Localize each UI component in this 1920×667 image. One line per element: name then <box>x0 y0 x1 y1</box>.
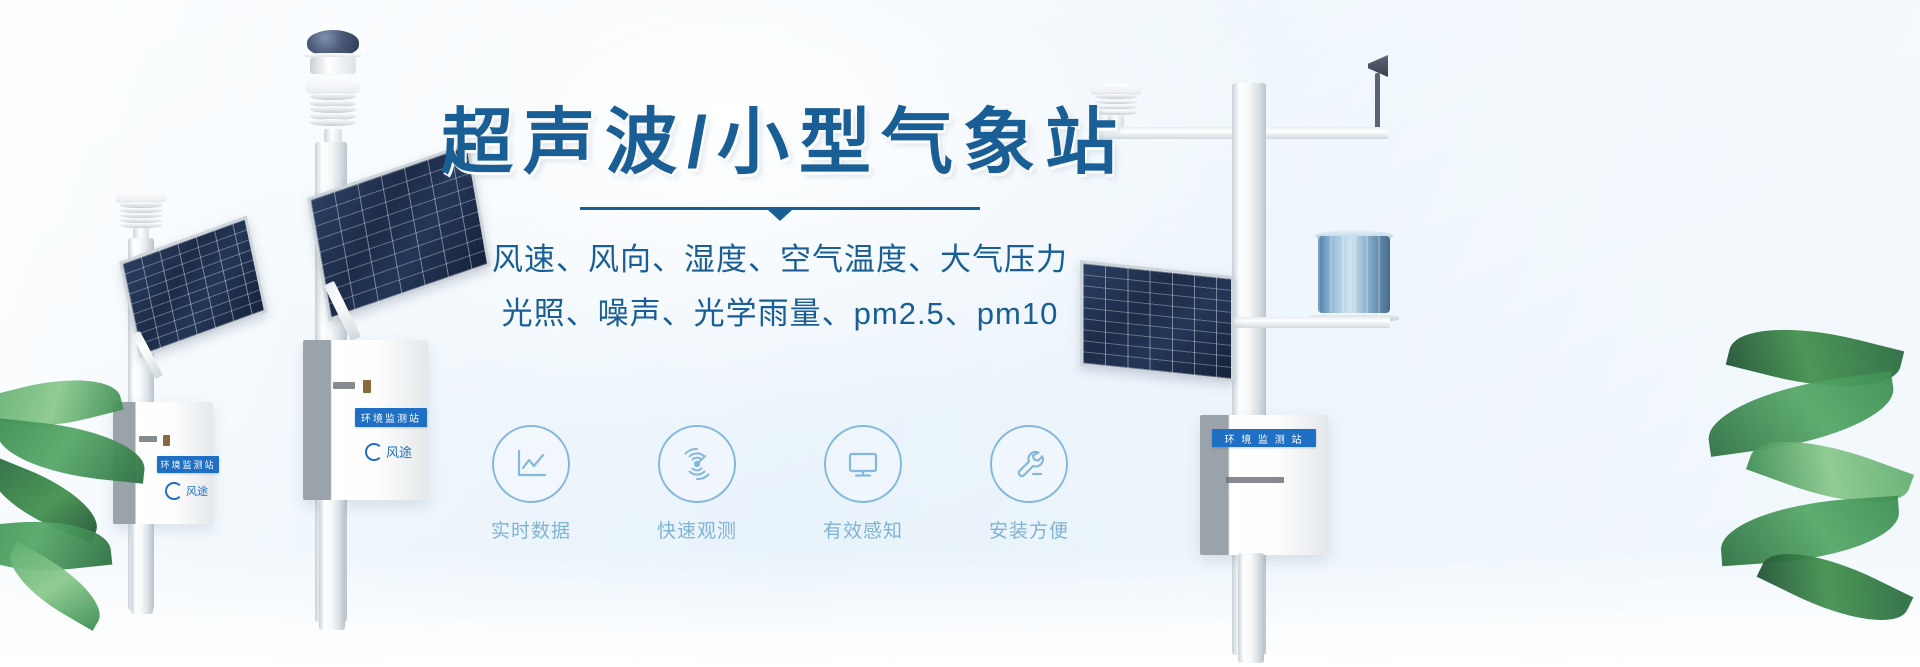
shield-plate <box>120 202 162 207</box>
feature-item-effective-sensing[interactable]: 有效感知 <box>798 425 928 543</box>
feature-label: 快速观测 <box>632 516 762 543</box>
subtitle-line-2: 光照、噪声、光学雨量、pm2.5、pm10 <box>430 290 1130 338</box>
feature-item-fast-observation[interactable]: 快速观测 <box>632 425 762 543</box>
equipment-cabinet-center: 环境监测站 风途 <box>303 340 428 500</box>
station-base-post-right <box>1238 553 1264 663</box>
station-base-post-center <box>319 500 345 630</box>
radiation-shield-sensor-left <box>117 190 165 242</box>
cabinet-nameplate-right: 环 境 监 测 站 <box>1212 429 1316 447</box>
brand-mark-icon <box>365 443 383 461</box>
subtitle-line-1: 风速、风向、湿度、空气温度、大气压力 <box>430 236 1130 284</box>
cabinet-lock <box>363 380 371 393</box>
brand-logo-text: 风途 <box>386 442 412 461</box>
vane-mount <box>1375 73 1380 129</box>
sensor-dome-body <box>310 57 356 74</box>
radar-signal-icon <box>658 425 736 503</box>
feature-item-easy-install[interactable]: 安装方便 <box>964 425 1094 543</box>
cabinet-nameplate-center: 环境监测站 <box>355 408 427 427</box>
banner-text-block: 超声波/小型气象站 风速、风向、湿度、空气温度、大气压力 光照、噪声、光学雨量、… <box>430 105 1130 338</box>
rain-gauge-sensor <box>1318 230 1390 322</box>
feature-item-realtime-data[interactable]: 实时数据 <box>466 425 596 543</box>
sensor-dome-ball <box>307 30 359 56</box>
feature-label: 实时数据 <box>466 516 596 543</box>
rain-gauge-cylinder <box>1318 236 1390 313</box>
brand-logo-center: 风途 <box>365 442 412 461</box>
cabinet-vent <box>1226 477 1284 483</box>
radiation-shield-sensor-center <box>307 76 359 148</box>
wrench-icon <box>990 425 1068 503</box>
shield-cap <box>1092 83 1140 93</box>
feature-list: 实时数据 快速观测 <box>430 425 1130 543</box>
feature-label: 安装方便 <box>964 516 1094 543</box>
shield-cap <box>117 190 165 201</box>
title-divider <box>580 207 980 210</box>
wind-vane-sensor <box>1362 55 1392 129</box>
feature-label: 有效感知 <box>798 516 928 543</box>
line-chart-icon <box>492 425 570 503</box>
shield-plate <box>1095 94 1137 98</box>
monitor-display-icon <box>824 425 902 503</box>
equipment-cabinet-right: 环 境 监 测 站 <box>1200 415 1328 555</box>
plant-left <box>0 370 220 667</box>
ultrasonic-sensor-dome <box>307 30 359 74</box>
shield-cap <box>307 76 359 92</box>
product-banner: 环境监测站 风途 <box>0 0 1920 667</box>
plant-right <box>1700 330 1920 667</box>
cabinet-vent <box>333 382 355 389</box>
page-title: 超声波/小型气象站 <box>438 105 1130 181</box>
shield-plate <box>310 119 356 126</box>
